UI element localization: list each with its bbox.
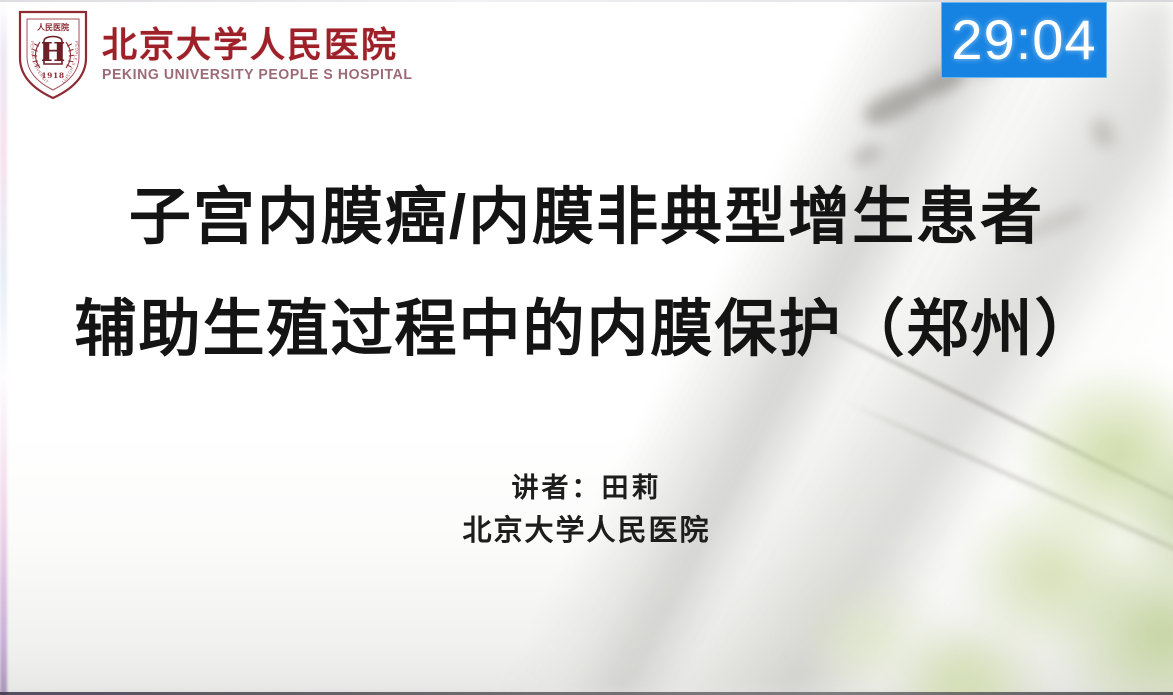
svg-text:H: H <box>41 38 66 68</box>
speaker-info: 讲者：田莉 北京大学人民医院 <box>0 466 1173 552</box>
hospital-shield-icon: 人民医院 H 1918 PEKING UNIVERSITY PEOPLE S H… <box>14 6 92 102</box>
svg-text:人民医院: 人民医院 <box>37 22 69 32</box>
slide-title: 子宫内膜癌/内膜非典型增生患者 辅助生殖过程中的内膜保护（郑州） <box>0 162 1173 386</box>
countdown-timer-value: 29:04 <box>951 12 1096 68</box>
speaker-affiliation: 北京大学人民医院 <box>0 510 1173 552</box>
hospital-logo: 人民医院 H 1918 PEKING UNIVERSITY PEOPLE S H… <box>14 6 422 102</box>
presentation-slide: 人民医院 H 1918 PEKING UNIVERSITY PEOPLE S H… <box>0 0 1173 695</box>
title-line-2: 辅助生殖过程中的内膜保护（郑州） <box>0 274 1173 386</box>
background-signage-smudge <box>1087 115 1119 151</box>
hospital-name-en: PEKING UNIVERSITY PEOPLE S HOSPITAL <box>102 68 413 84</box>
hospital-wordmark: 北京大学人民医院 PEKING UNIVERSITY PEOPLE S HOSP… <box>102 24 422 84</box>
hospital-name-cn: 北京大学人民医院 <box>102 28 422 65</box>
countdown-timer-badge: 29:04 <box>941 2 1107 78</box>
title-line-1: 子宫内膜癌/内膜非典型增生患者 <box>0 162 1173 274</box>
speaker-presenter: 讲者：田莉 <box>0 466 1173 510</box>
